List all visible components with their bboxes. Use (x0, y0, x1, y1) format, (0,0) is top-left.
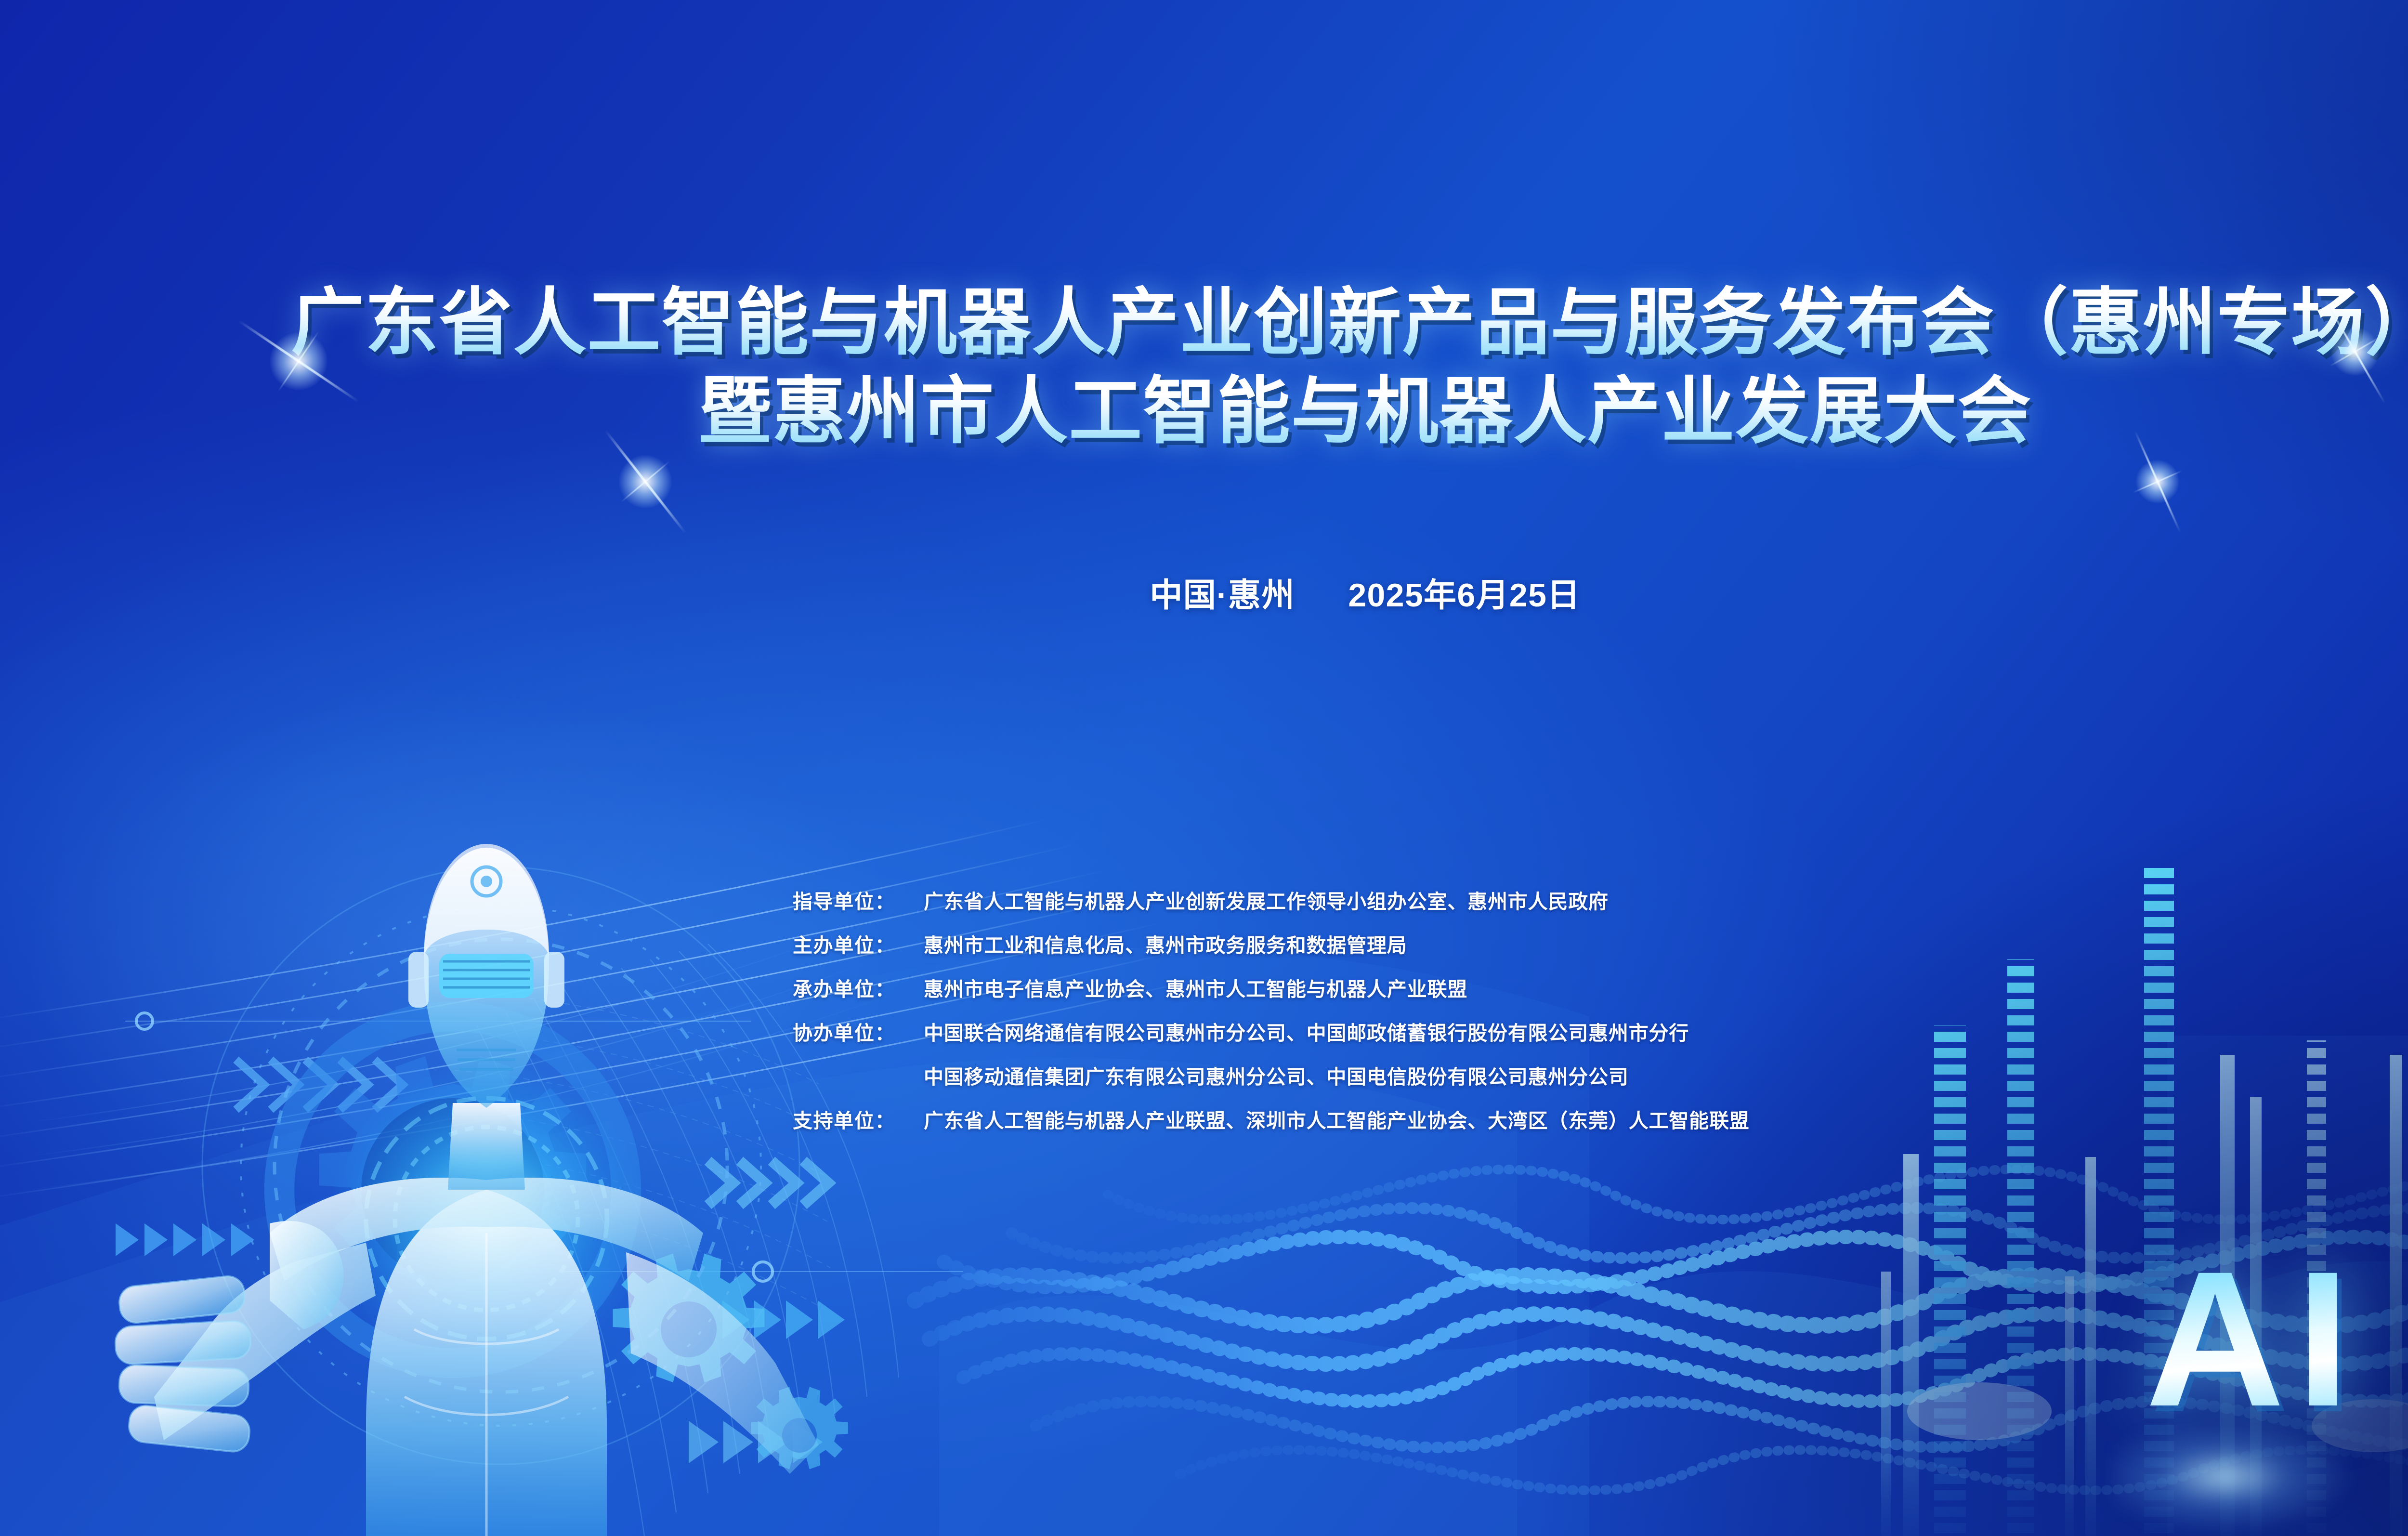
title-line-1: 广东省人工智能与机器人产业创新产品与服务发布会（惠州专场） (0, 282, 2408, 364)
organizer-value: 广东省人工智能与机器人产业创新发展工作领导小组办公室、惠州市人民政府 (924, 885, 1609, 914)
organizer-row-organizer: 承办单位： 惠州市电子信息产业协会、惠州市人工智能与机器人产业联盟 (793, 973, 1750, 1002)
organizer-label: 主办单位： (793, 929, 924, 958)
vertical-equalizer-bars-decor (0, 0, 2408, 1536)
organizer-list: 指导单位： 广东省人工智能与机器人产业创新发展工作领导小组办公室、惠州市人民政府… (793, 885, 1750, 1148)
organizer-value: 惠州市电子信息产业协会、惠州市人工智能与机器人产业联盟 (924, 973, 1467, 1002)
organizer-value: 中国移动通信集团广东有限公司惠州分公司、中国电信股份有限公司惠州分公司 (924, 1061, 1629, 1090)
flow-lines-decor (0, 0, 2408, 1536)
dna-dotted-waveform-decor (0, 0, 2408, 1536)
organizer-label: 指导单位： (793, 885, 924, 914)
organizer-row-coorganizer-continued: 协办单位： 中国移动通信集团广东有限公司惠州分公司、中国电信股份有限公司惠州分公… (793, 1061, 1750, 1090)
organizer-label: 支持单位： (793, 1104, 924, 1133)
organizer-label: 协办单位： (793, 1017, 924, 1046)
organizer-label: 承办单位： (793, 973, 924, 1002)
organizer-row-host: 主办单位： 惠州市工业和信息化局、惠州市政务服务和数据管理局 (793, 929, 1750, 958)
organizer-row-guidance: 指导单位： 广东省人工智能与机器人产业创新发展工作领导小组办公室、惠州市人民政府 (793, 885, 1750, 914)
page-title: 广东省人工智能与机器人产业创新产品与服务发布会（惠州专场） 暨惠州市人工智能与机… (0, 282, 2408, 452)
conference-banner: 广东省人工智能与机器人产业创新产品与服务发布会（惠州专场） 暨惠州市人工智能与机… (0, 0, 2408, 1536)
organizer-value: 中国联合网络通信有限公司惠州市分公司、中国邮政储蓄银行股份有限公司惠州市分行 (924, 1017, 1689, 1046)
organizer-row-coorganizer: 协办单位： 中国联合网络通信有限公司惠州市分公司、中国邮政储蓄银行股份有限公司惠… (793, 1017, 1750, 1046)
subtitle-date: 2025年6月25日 (1348, 577, 1580, 614)
subtitle-location-date: 中国·惠州 2025年6月25日 (0, 568, 2408, 616)
subtitle-location: 中国·惠州 (1150, 577, 1295, 614)
humanoid-robot-figure (0, 0, 2408, 1536)
title-line-2: 暨惠州市人工智能与机器人产业发展大会 (0, 370, 2408, 452)
ai-logo: AI (2146, 1243, 2361, 1435)
gear-icons (0, 0, 2408, 1536)
organizer-value: 广东省人工智能与机器人产业联盟、深圳市人工智能产业协会、大湾区（东莞）人工智能联… (924, 1104, 1750, 1133)
organizer-row-supporter: 支持单位： 广东省人工智能与机器人产业联盟、深圳市人工智能产业协会、大湾区（东莞… (793, 1104, 1750, 1133)
organizer-value: 惠州市工业和信息化局、惠州市政务服务和数据管理局 (924, 929, 1407, 958)
chevron-arrow-icons (0, 0, 2408, 1536)
